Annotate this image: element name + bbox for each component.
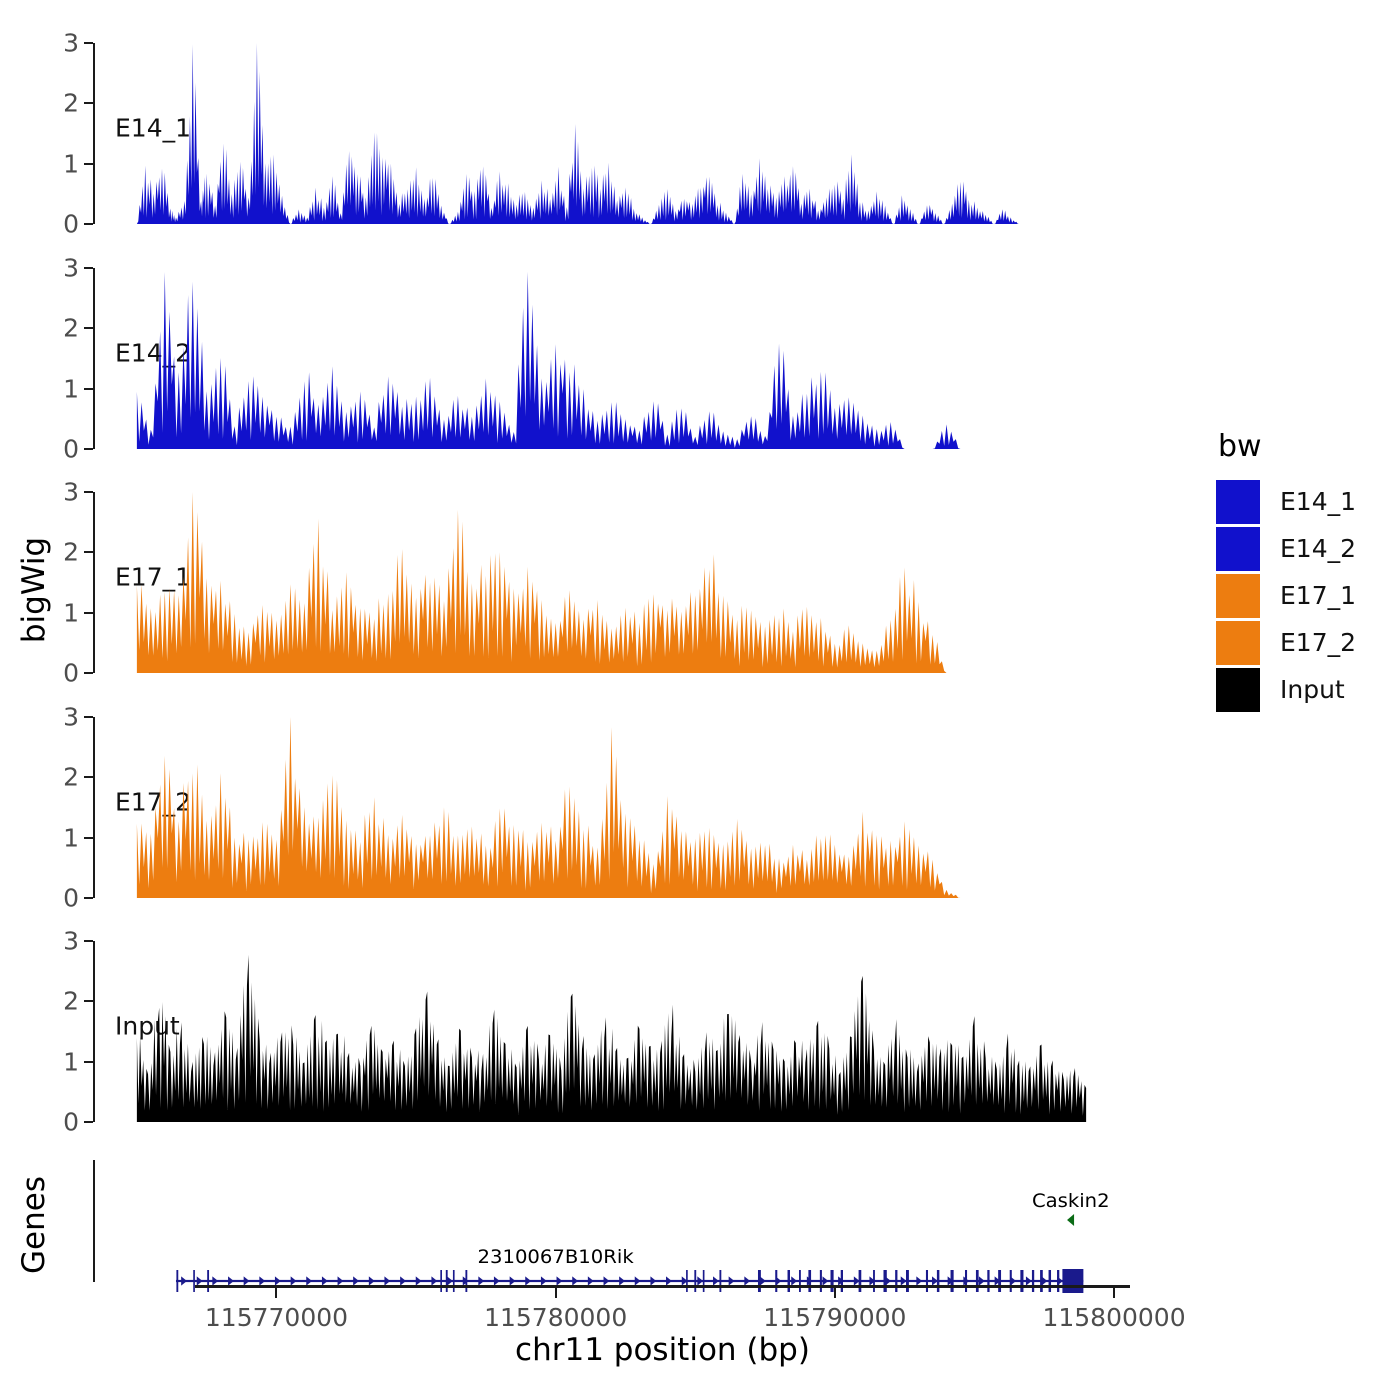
y-tick xyxy=(84,42,93,44)
legend-title: bw xyxy=(1218,432,1396,462)
legend: bw E14_1E14_2E17_1E17_2Input xyxy=(1216,432,1396,713)
x-axis-line xyxy=(195,1285,1130,1288)
y-tick-label: 2 xyxy=(63,316,79,341)
y-tick-label: 3 xyxy=(63,929,79,954)
x-tick xyxy=(555,1288,557,1298)
y-tick xyxy=(84,551,93,553)
genes-plot-area: 2310067B10RikCaskin2 xyxy=(95,1160,1128,1305)
track-area-svg xyxy=(95,43,1128,224)
x-tick xyxy=(275,1288,277,1298)
y-tick xyxy=(84,1061,93,1063)
legend-items: E14_1E14_2E17_1E17_2Input xyxy=(1216,478,1396,713)
y-tick-label: 0 xyxy=(63,886,79,911)
y-tick xyxy=(84,897,93,899)
bigwig-track-e17_2: 0123E17_2 xyxy=(93,717,1128,898)
y-tick xyxy=(84,612,93,614)
y-tick-label: 3 xyxy=(63,31,79,56)
track-area-path xyxy=(137,43,1095,224)
legend-label: E17_1 xyxy=(1280,581,1356,610)
x-tick-label: 115800000 xyxy=(1042,1303,1185,1332)
track-area-path xyxy=(137,717,1086,898)
legend-item-e17_2[interactable]: E17_2 xyxy=(1216,619,1396,666)
x-axis-title: chr11 position (bp) xyxy=(195,1332,1130,1368)
y-tick-label: 2 xyxy=(63,989,79,1014)
bigwig-track-e14_2: 0123E14_2 xyxy=(93,268,1128,449)
y-tick-label: 2 xyxy=(63,91,79,116)
y-tick xyxy=(84,940,93,942)
bigwig-track-e14_1: 0123E14_1 xyxy=(93,43,1128,224)
track-area-svg xyxy=(95,268,1128,449)
legend-label: E14_1 xyxy=(1280,487,1356,516)
y-tick xyxy=(84,102,93,104)
legend-swatch-e17_1 xyxy=(1216,574,1260,618)
x-tick xyxy=(1113,1288,1115,1298)
y-tick xyxy=(84,776,93,778)
y-tick-label: 2 xyxy=(63,765,79,790)
legend-item-e17_1[interactable]: E17_1 xyxy=(1216,572,1396,619)
legend-label: Input xyxy=(1280,675,1345,704)
y-tick xyxy=(84,672,93,674)
y-tick-label: 2 xyxy=(63,540,79,565)
track-area-path xyxy=(137,955,1086,1122)
bigwig-track-e17_1: 0123E17_1 xyxy=(93,492,1128,673)
y-tick-label: 1 xyxy=(63,1049,79,1074)
track-area-path xyxy=(137,272,1086,449)
track-plot-area xyxy=(95,717,1128,898)
x-axis: 115770000115780000115790000115800000 xyxy=(195,1285,1130,1286)
y-tick-label: 0 xyxy=(63,661,79,686)
svg-text:Caskin2: Caskin2 xyxy=(1032,1189,1110,1212)
track-plot-area xyxy=(95,492,1128,673)
track-area-svg xyxy=(95,941,1128,1122)
y-tick xyxy=(84,1000,93,1002)
y-tick xyxy=(84,163,93,165)
y-tick xyxy=(84,388,93,390)
legend-swatch-e14_2 xyxy=(1216,527,1260,571)
bigwig-track-input: 0123Input xyxy=(93,941,1128,1122)
track-plot-area xyxy=(95,268,1128,449)
genes-panel: 2310067B10RikCaskin2 xyxy=(93,1160,1128,1305)
y-tick xyxy=(84,716,93,718)
y-tick-label: 3 xyxy=(63,256,79,281)
legend-swatch-e17_2 xyxy=(1216,621,1260,665)
svg-text:2310067B10Rik: 2310067B10Rik xyxy=(478,1245,635,1268)
y-tick xyxy=(84,491,93,493)
y-tick-label: 0 xyxy=(63,1110,79,1135)
y-tick xyxy=(84,223,93,225)
legend-label: E14_2 xyxy=(1280,534,1356,563)
y-tick-label: 3 xyxy=(63,705,79,730)
track-area-svg xyxy=(95,492,1128,673)
y-tick-label: 1 xyxy=(63,376,79,401)
legend-swatch-input xyxy=(1216,668,1260,712)
genome-browser-figure: bigWig Genes 0123E14_10123E14_20123E17_1… xyxy=(0,0,1400,1400)
y-axis-title-genes: Genes xyxy=(14,1155,54,1295)
y-tick-label: 1 xyxy=(63,825,79,850)
x-tick xyxy=(834,1288,836,1298)
y-tick xyxy=(84,837,93,839)
y-axis-title-bigwig: bigWig xyxy=(14,510,54,670)
y-tick-label: 1 xyxy=(63,600,79,625)
y-tick xyxy=(84,448,93,450)
track-area-path xyxy=(137,492,1086,673)
y-tick-label: 1 xyxy=(63,151,79,176)
y-tick-label: 0 xyxy=(63,212,79,237)
track-plot-area xyxy=(95,941,1128,1122)
track-plot-area xyxy=(95,43,1128,224)
legend-item-input[interactable]: Input xyxy=(1216,666,1396,713)
legend-item-e14_1[interactable]: E14_1 xyxy=(1216,478,1396,525)
y-tick xyxy=(84,267,93,269)
y-tick xyxy=(84,1121,93,1123)
legend-swatch-e14_1 xyxy=(1216,480,1260,524)
gene-model-svg: 2310067B10RikCaskin2 xyxy=(95,1160,1128,1305)
track-area-svg xyxy=(95,717,1128,898)
y-tick-label: 0 xyxy=(63,437,79,462)
legend-label: E17_2 xyxy=(1280,628,1356,657)
y-tick xyxy=(84,327,93,329)
x-tick-label: 115780000 xyxy=(484,1303,627,1332)
legend-item-e14_2[interactable]: E14_2 xyxy=(1216,525,1396,572)
x-tick-label: 115770000 xyxy=(205,1303,348,1332)
y-tick-label: 3 xyxy=(63,480,79,505)
x-tick-label: 115790000 xyxy=(763,1303,906,1332)
